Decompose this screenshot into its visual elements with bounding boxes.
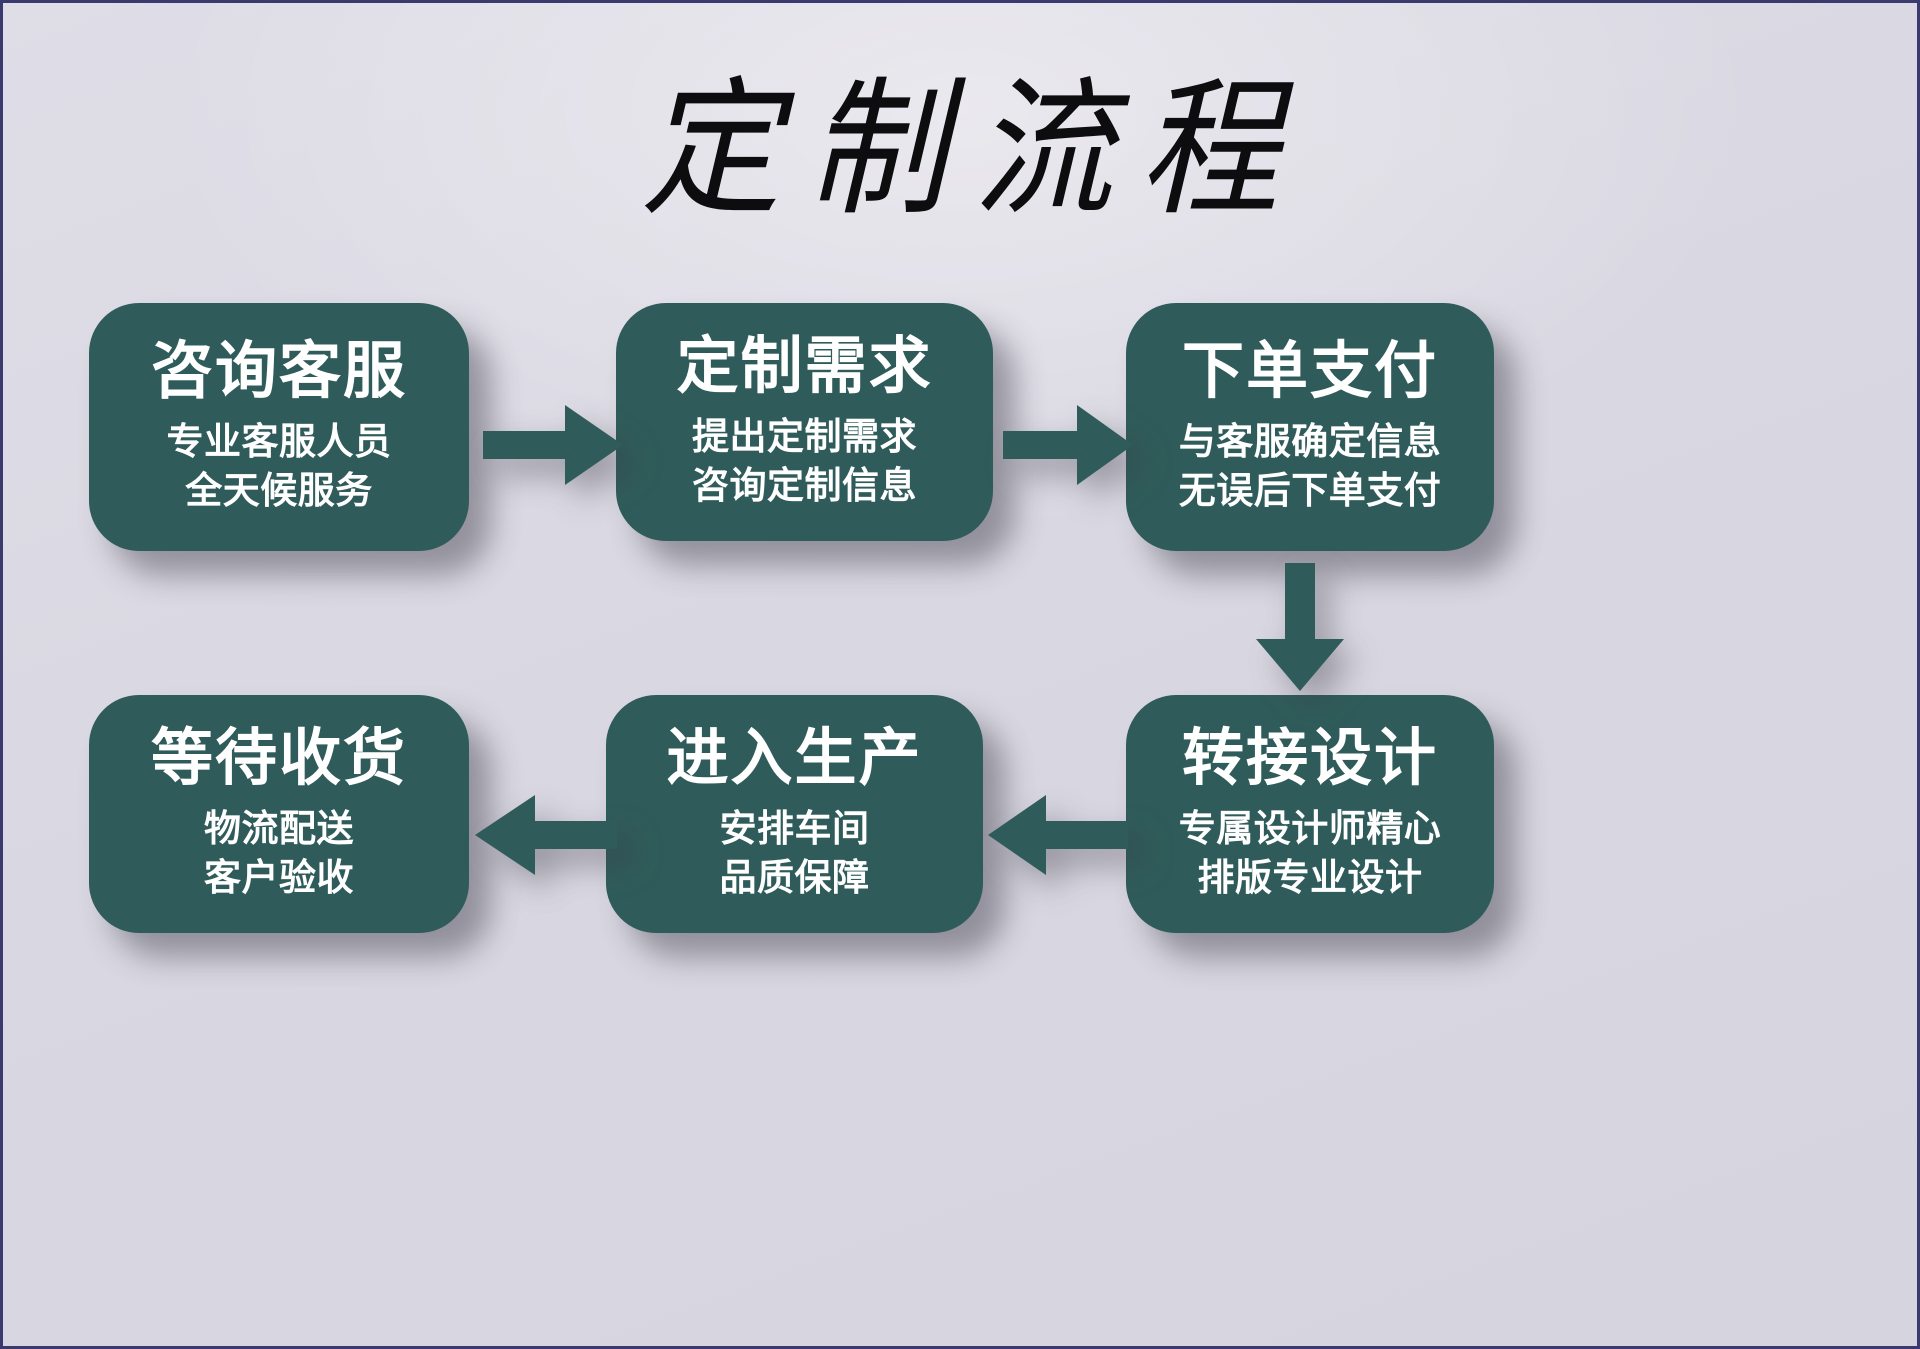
step-card-5-subline-1: 安排车间 [720, 805, 870, 854]
page-title: 定制流程 [3, 65, 1917, 236]
step-card-6-title: 等待收货 [151, 726, 407, 791]
step-card-1-subline-1: 专业客服人员 [167, 418, 392, 467]
flowchart-canvas: 定制流程 咨询客服 专业客服人员 全天候服务 定制需求 提出定制需求 咨询定制信… [0, 0, 1920, 1349]
arrow-right-icon-step1-step2 [483, 397, 623, 493]
step-card-4-title: 转接设计 [1182, 726, 1438, 791]
step-card-1-title: 咨询客服 [151, 339, 407, 404]
step-card-1[interactable]: 咨询客服 专业客服人员 全天候服务 [89, 303, 469, 551]
step-card-3-title: 下单支付 [1182, 339, 1438, 404]
step-card-2-subline-2: 咨询定制信息 [692, 462, 917, 511]
step-card-2-subline-1: 提出定制需求 [692, 413, 917, 462]
step-card-5[interactable]: 进入生产 安排车间 品质保障 [606, 695, 983, 933]
step-card-2[interactable]: 定制需求 提出定制需求 咨询定制信息 [616, 303, 993, 541]
arrow-left-icon-step5-step6 [475, 787, 617, 883]
step-card-5-subline-2: 品质保障 [720, 854, 870, 903]
step-card-2-title: 定制需求 [676, 334, 932, 399]
step-card-1-subline-2: 全天候服务 [185, 467, 373, 516]
step-card-4-subline-2: 排版专业设计 [1198, 854, 1423, 903]
step-card-6-subline-1: 物流配送 [204, 805, 354, 854]
arrow-left-icon-step4-step5 [988, 787, 1128, 883]
step-card-5-title: 进入生产 [666, 726, 922, 791]
step-card-6-subline-2: 客户验收 [204, 854, 354, 903]
step-card-4-subline-1: 专属设计师精心 [1179, 805, 1442, 854]
step-card-3-subline-1: 与客服确定信息 [1179, 418, 1442, 467]
arrow-right-icon-step2-step3 [1003, 397, 1133, 493]
step-card-6[interactable]: 等待收货 物流配送 客户验收 [89, 695, 469, 933]
step-card-3-subline-2: 无误后下单支付 [1179, 467, 1442, 516]
step-card-3[interactable]: 下单支付 与客服确定信息 无误后下单支付 [1126, 303, 1494, 551]
step-card-4[interactable]: 转接设计 专属设计师精心 排版专业设计 [1126, 695, 1494, 933]
arrow-down-icon-step3-step4 [1248, 563, 1352, 691]
